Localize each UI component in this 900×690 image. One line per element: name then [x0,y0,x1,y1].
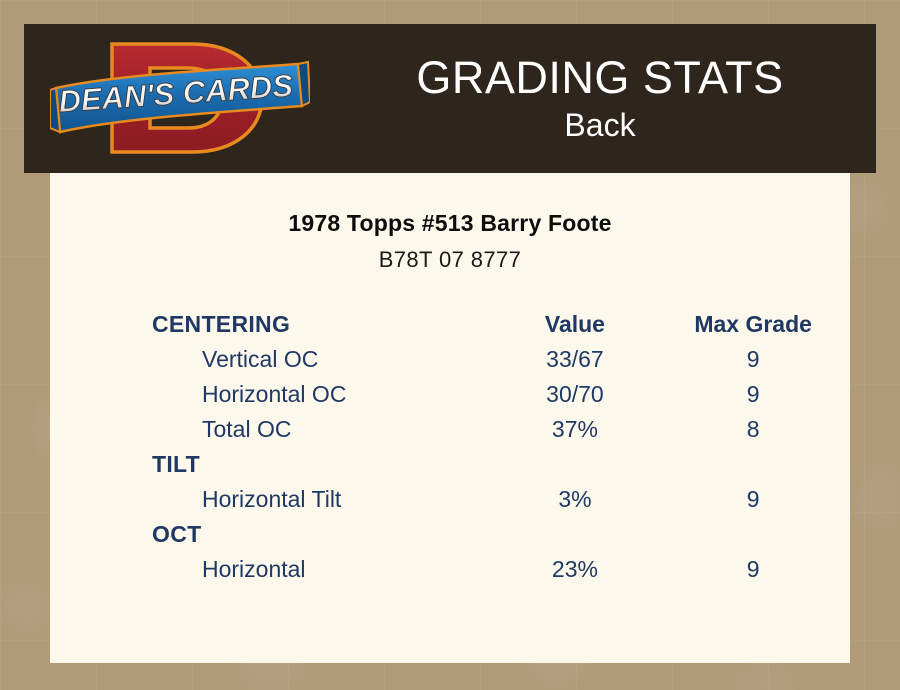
content-panel: 1978 Topps #513 Barry Foote B78T 07 8777… [50,173,850,663]
row-value: 23% [494,552,657,587]
section-label: OCT [50,517,494,552]
section-grade-spacer [656,517,850,552]
table-row: Total OC37%8 [50,412,850,447]
header-band: DEAN'S CARDS GRADING STATS Back [24,24,876,173]
section-label: TILT [50,447,494,482]
header-titles: GRADING STATS Back [324,24,876,173]
table-row: Horizontal23%9 [50,552,850,587]
section-value-spacer [494,447,657,482]
row-label: Vertical OC [50,342,494,377]
table-row: Vertical OC33/679 [50,342,850,377]
row-max-grade: 9 [656,552,850,587]
logo-banner: DEAN'S CARDS [50,62,310,132]
row-max-grade: 9 [656,377,850,412]
grading-stats-table: CENTERINGValueMax GradeVertical OC33/679… [50,307,850,587]
table-row: Horizontal Tilt3%9 [50,482,850,517]
table-row: Horizontal OC30/709 [50,377,850,412]
row-label: Horizontal Tilt [50,482,494,517]
row-label: Horizontal [50,552,494,587]
section-header-row: TILT [50,447,850,482]
row-value: 3% [494,482,657,517]
logo-artwork: DEAN'S CARDS [50,32,310,164]
row-value: 33/67 [494,342,657,377]
card-code: B78T 07 8777 [50,247,850,273]
section-label: CENTERING [50,307,494,342]
row-value: 37% [494,412,657,447]
row-label: Horizontal OC [50,377,494,412]
card-title: 1978 Topps #513 Barry Foote [50,210,850,237]
section-grade-spacer [656,447,850,482]
column-header-max-grade: Max Grade [656,307,850,342]
page-title: GRADING STATS [416,53,783,103]
section-value-spacer [494,517,657,552]
row-value: 30/70 [494,377,657,412]
row-max-grade: 9 [656,342,850,377]
section-header-row: OCT [50,517,850,552]
row-max-grade: 8 [656,412,850,447]
section-header-row: CENTERINGValueMax Grade [50,307,850,342]
row-max-grade: 9 [656,482,850,517]
column-header-value: Value [494,307,657,342]
page-subtitle: Back [564,105,635,145]
deans-cards-logo[interactable]: DEAN'S CARDS [50,32,310,164]
row-label: Total OC [50,412,494,447]
